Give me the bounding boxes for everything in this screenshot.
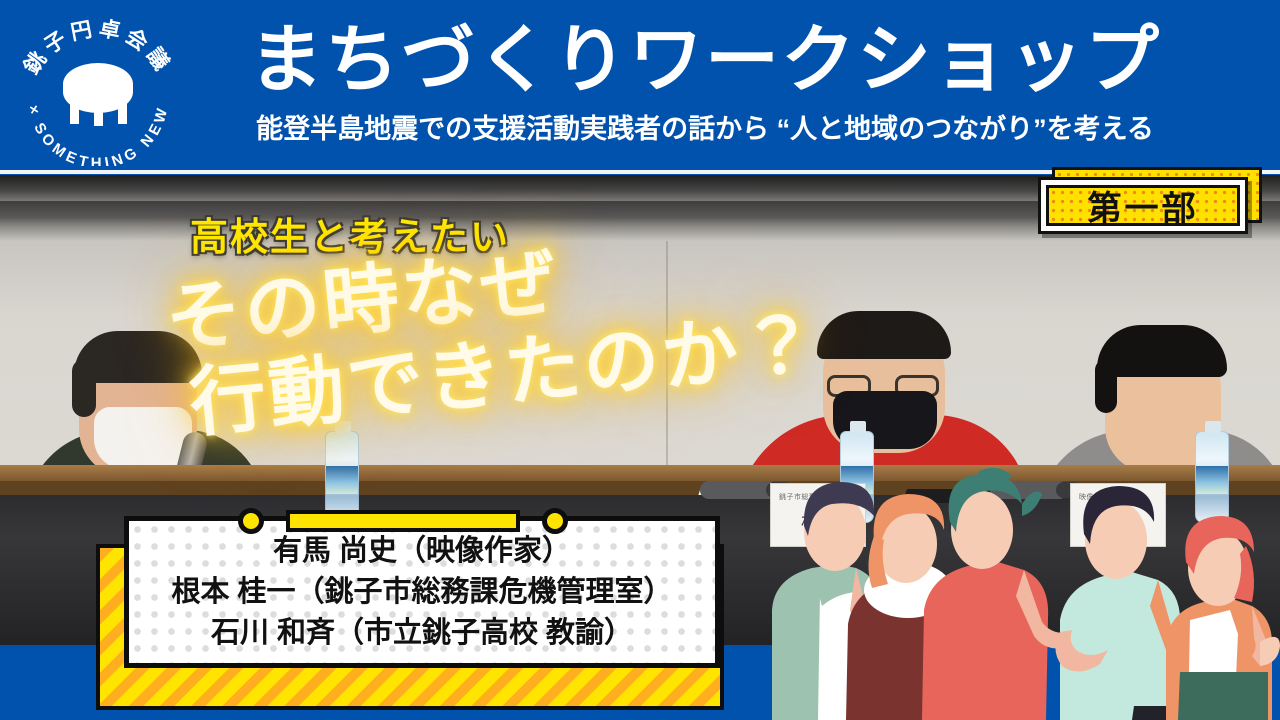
- tab-knob-left-icon: [238, 508, 264, 534]
- page-subtitle: 能登半島地震での支援活動実践者の話から “人と地域のつながり”を考える: [160, 112, 1250, 146]
- people-illustration: [760, 460, 1280, 720]
- panel-top-tab: [238, 508, 568, 534]
- illustration-person-3: [922, 468, 1078, 720]
- illustration-person-5: [1166, 516, 1280, 720]
- tab-knob-right-icon: [542, 508, 568, 534]
- speakers-list: 有馬 尚史（映像作家） 根本 桂一（銚子市総務課危機管理室） 石川 和斉（市立銚…: [129, 521, 715, 663]
- list-item: 有馬 尚史（映像作家）: [273, 531, 571, 571]
- panel-card: 有馬 尚史（映像作家） 根本 桂一（銚子市総務課危機管理室） 石川 和斉（市立銚…: [124, 516, 720, 668]
- slide-canvas: 銚子市総務課 根 映像作家 有 銚子円卓会議 × SOMETHING NEW: [0, 0, 1280, 720]
- page-title: まちづくりワークショップ: [175, 14, 1235, 106]
- badge-label: 第一部: [1049, 188, 1237, 223]
- list-item: 根本 桂一（銚子市総務課危機管理室）: [171, 572, 672, 612]
- tab-bar: [286, 510, 520, 532]
- list-item: 石川 和斉（市立銚子高校 教諭）: [211, 613, 633, 653]
- round-table-icon: [63, 63, 133, 126]
- badge-fill: 第一部: [1046, 185, 1240, 226]
- speakers-panel: 有馬 尚史（映像作家） 根本 桂一（銚子市総務課危機管理室） 石川 和斉（市立銚…: [96, 494, 740, 710]
- part-number-badge: 第一部: [1038, 172, 1262, 234]
- badge-frame: 第一部: [1038, 177, 1248, 234]
- title-header: 銚子円卓会議 × SOMETHING NEW まちづくりワークショップ 能登半島…: [0, 0, 1280, 175]
